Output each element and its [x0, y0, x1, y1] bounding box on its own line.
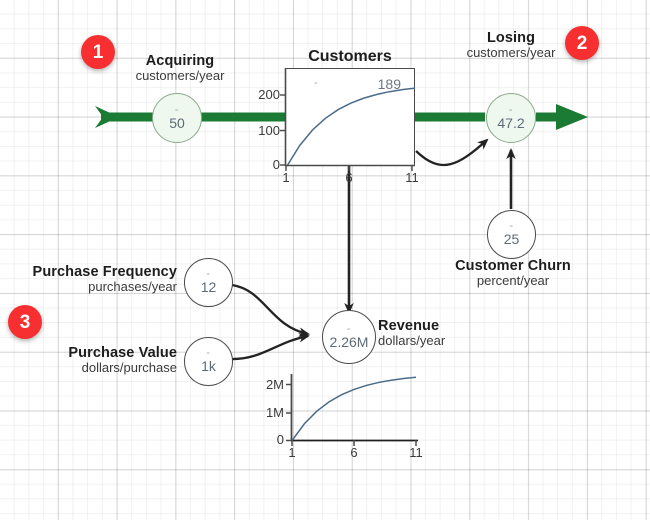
badge-step-3[interactable]: 3 [8, 305, 42, 339]
revenue-xtick-6: 6 [340, 445, 368, 460]
revenue-ytick-1m: 1M [250, 405, 284, 420]
revenue-unit: dollars/year [378, 334, 508, 349]
badge-step-1-label: 1 [93, 43, 104, 62]
badge-step-3-label: 3 [20, 313, 31, 332]
badge-step-2[interactable]: 2 [565, 26, 599, 60]
purchase-value-title: Purchase Value [22, 345, 177, 361]
customer-churn-title: Customer Churn [443, 258, 583, 274]
losing-title: Losing [443, 30, 579, 46]
revenue-ytick-2m: 2M [250, 377, 284, 392]
revenue-label: Revenue dollars/year [378, 318, 508, 349]
customers-ytick-200: 200 [248, 87, 280, 102]
losing-label: Losing customers/year [443, 30, 579, 61]
customers-xtick-1: 1 [272, 170, 300, 185]
badge-step-1[interactable]: 1 [81, 35, 115, 69]
losing-unit: customers/year [443, 46, 579, 61]
customer-churn-label: Customer Churn percent/year [443, 258, 583, 289]
acquiring-label: Acquiring customers/year [112, 53, 248, 84]
acquiring-title: Acquiring [112, 53, 248, 69]
revenue-xtick-1: 1 [278, 445, 306, 460]
badge-step-2-label: 2 [577, 34, 588, 53]
customers-stock-title: Customers [285, 48, 415, 66]
purchase-frequency-label: Purchase Frequency purchases/year [22, 264, 177, 295]
purchase-frequency-unit: purchases/year [22, 280, 177, 295]
revenue-xtick-11: 11 [402, 445, 430, 460]
purchase-value-label: Purchase Value dollars/purchase [22, 345, 177, 376]
revenue-title: Revenue [378, 318, 508, 334]
customers-ytick-100: 100 [248, 123, 280, 138]
purchase-value-unit: dollars/purchase [22, 361, 177, 376]
purchase-frequency-title: Purchase Frequency [22, 264, 177, 280]
customers-xtick-11: 11 [398, 170, 426, 185]
stock-flow-diagram-canvas: Customers - 189 200 100 0 1 6 11 Acquiri… [0, 0, 650, 520]
customer-churn-unit: percent/year [443, 274, 583, 289]
customers-xtick-6: 6 [335, 170, 363, 185]
acquiring-unit: customers/year [112, 69, 248, 84]
